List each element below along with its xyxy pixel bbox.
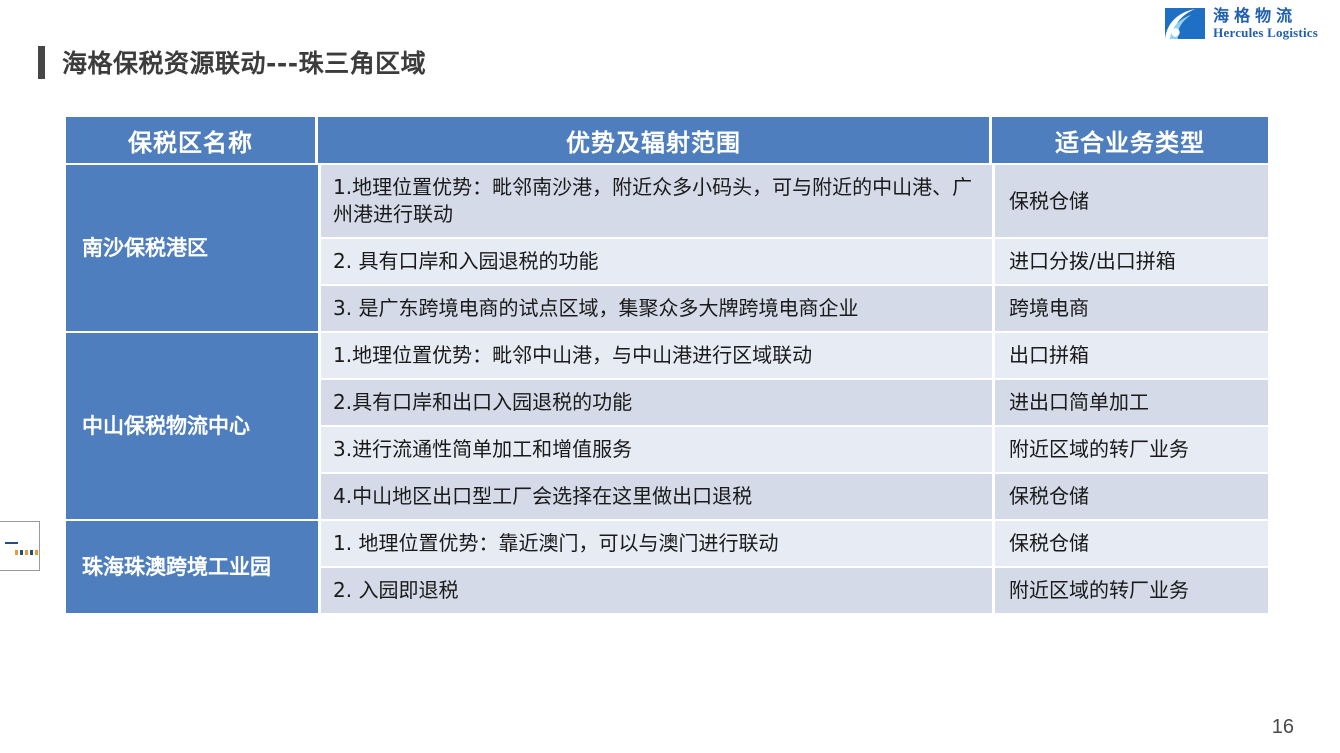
brand-logo-text: 海格物流 Hercules Logistics <box>1213 8 1318 39</box>
col-header-business-type: 适合业务类型 <box>992 117 1268 163</box>
table-body: 南沙保税港区 1.地理位置优势：毗邻南沙港，附近众多小码头，可与附近的中山港、广… <box>66 163 1268 613</box>
advantage-cell: 2. 具有口岸和入园退税的功能 <box>318 237 992 284</box>
page-title: 海格保税资源联动---珠三角区域 <box>62 44 426 80</box>
table-header-row: 保税区名称 优势及辐射范围 适合业务类型 <box>66 117 1268 163</box>
brand-name-en: Hercules Logistics <box>1213 26 1318 40</box>
advantage-cell: 4.中山地区出口型工厂会选择在这里做出口退税 <box>318 472 992 519</box>
business-cell: 保税仓储 <box>992 472 1268 519</box>
thumbnail-dots <box>15 550 40 555</box>
zone-name-cell: 南沙保税港区 <box>66 163 318 331</box>
business-cell: 保税仓储 <box>992 519 1268 566</box>
advantage-cell: 3. 是广东跨境电商的试点区域，集聚众多大牌跨境电商企业 <box>318 284 992 331</box>
brand-name-cn: 海格物流 <box>1213 8 1318 25</box>
business-cell: 跨境电商 <box>992 284 1268 331</box>
advantage-cell: 1.地理位置优势：毗邻南沙港，附近众多小码头，可与附近的中山港、广州港进行联动 <box>318 163 992 237</box>
title-accent-bar <box>38 46 45 79</box>
thumbnail-line <box>5 542 18 544</box>
table-row: 南沙保税港区 1.地理位置优势：毗邻南沙港，附近众多小码头，可与附近的中山港、广… <box>66 163 1268 237</box>
business-cell: 出口拼箱 <box>992 331 1268 378</box>
advantage-cell: 3.进行流通性简单加工和增值服务 <box>318 425 992 472</box>
table-row: 中山保税物流中心 1.地理位置优势：毗邻中山港，与中山港进行区域联动 出口拼箱 <box>66 331 1268 378</box>
wave-logo-icon <box>1165 8 1205 39</box>
page-number: 16 <box>1272 716 1294 739</box>
business-cell: 附近区域的转厂业务 <box>992 425 1268 472</box>
brand-logo: 海格物流 Hercules Logistics <box>1165 8 1318 39</box>
advantage-cell: 2.具有口岸和出口入园退税的功能 <box>318 378 992 425</box>
business-cell: 保税仓储 <box>992 163 1268 237</box>
advantage-cell: 1.地理位置优势：毗邻中山港，与中山港进行区域联动 <box>318 331 992 378</box>
col-header-zone-name: 保税区名称 <box>66 117 318 163</box>
bonded-zone-table: 保税区名称 优势及辐射范围 适合业务类型 南沙保税港区 1.地理位置优势：毗邻南… <box>66 117 1268 613</box>
zone-name-cell: 珠海珠澳跨境工业园 <box>66 519 318 613</box>
col-header-advantage: 优势及辐射范围 <box>318 117 992 163</box>
business-cell: 附近区域的转厂业务 <box>992 566 1268 613</box>
offscreen-thumbnail <box>0 521 40 571</box>
advantage-cell: 1. 地理位置优势：靠近澳门，可以与澳门进行联动 <box>318 519 992 566</box>
bonded-zone-table-wrap: 保税区名称 优势及辐射范围 适合业务类型 南沙保税港区 1.地理位置优势：毗邻南… <box>66 117 1268 613</box>
zone-name-cell: 中山保税物流中心 <box>66 331 318 519</box>
advantage-cell: 2. 入园即退税 <box>318 566 992 613</box>
business-cell: 进口分拨/出口拼箱 <box>992 237 1268 284</box>
business-cell: 进出口简单加工 <box>992 378 1268 425</box>
slide-title-row: 海格保税资源联动---珠三角区域 <box>38 44 426 80</box>
table-row: 珠海珠澳跨境工业园 1. 地理位置优势：靠近澳门，可以与澳门进行联动 保税仓储 <box>66 519 1268 566</box>
